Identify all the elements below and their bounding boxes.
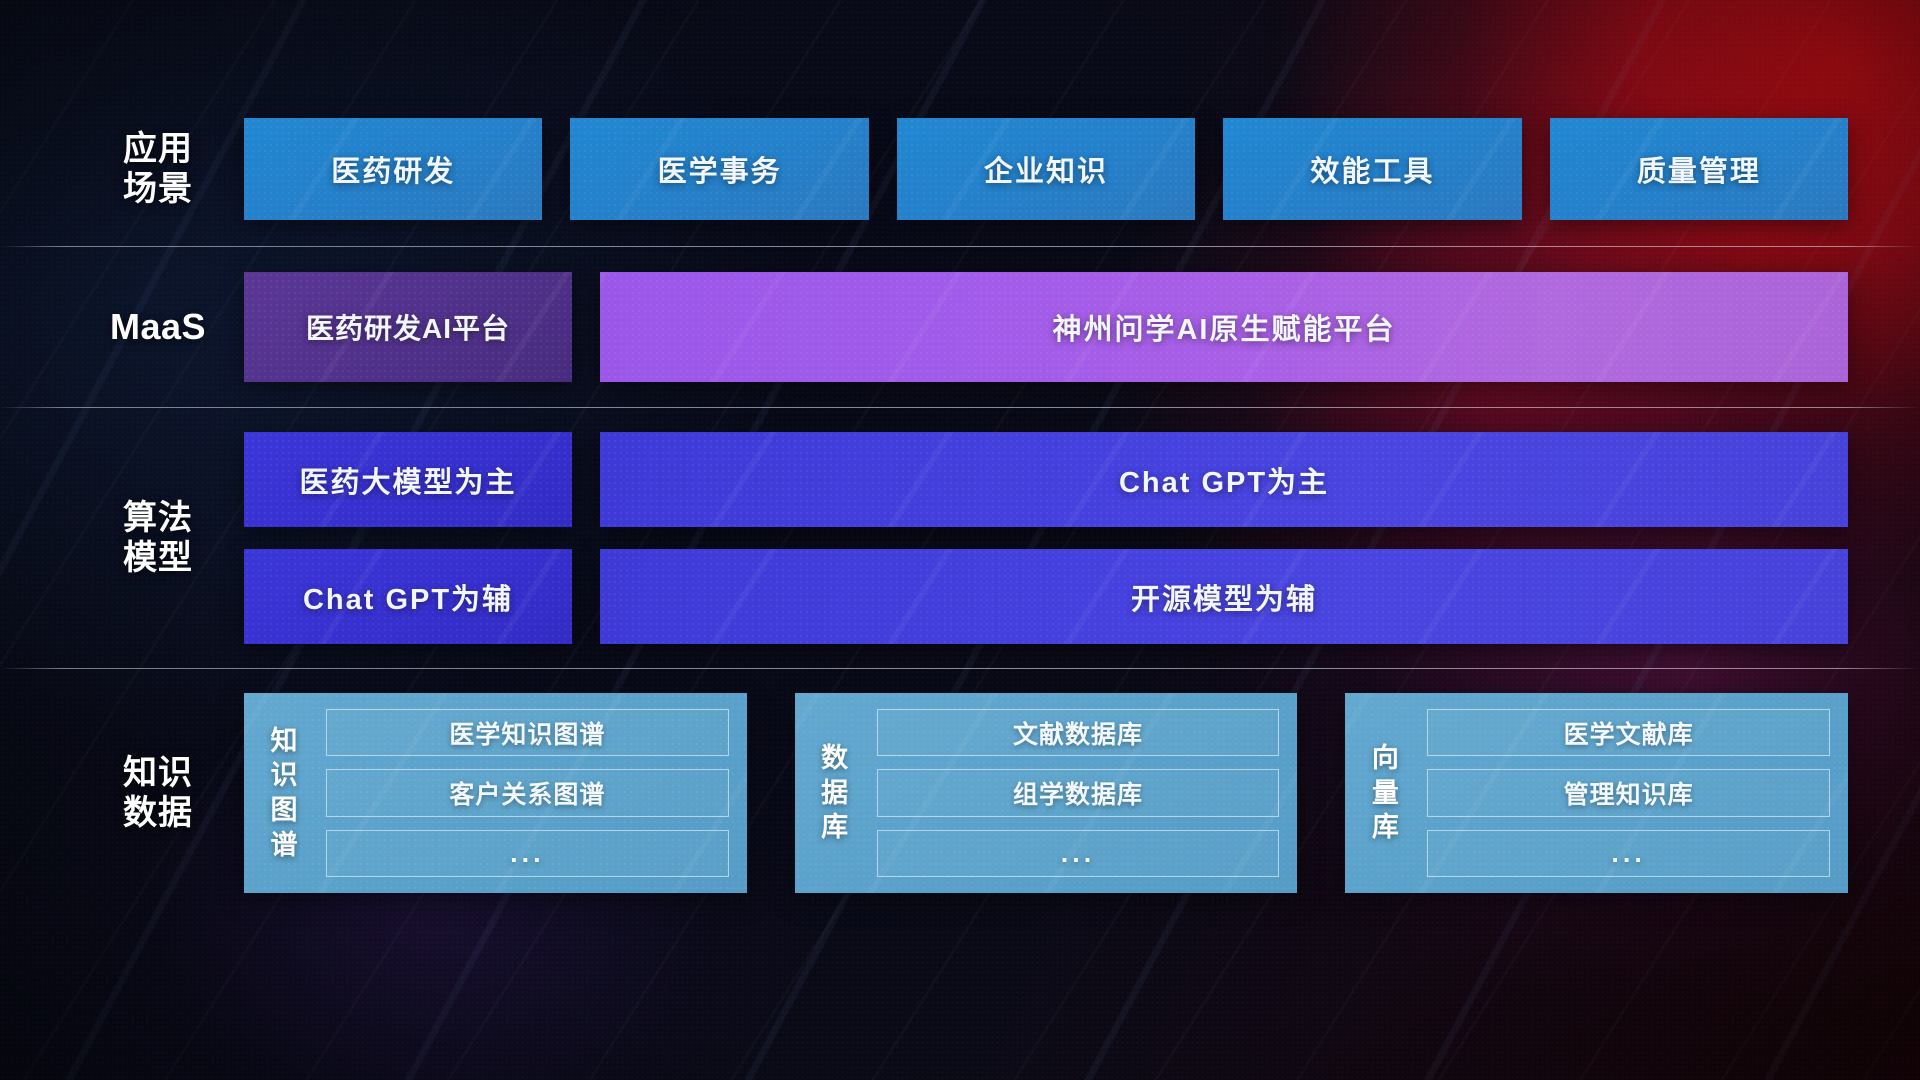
knowledge-item-more[interactable]: ... xyxy=(326,830,729,877)
app-card-label: 效能工具 xyxy=(1310,148,1434,190)
knowledge-item[interactable]: 组学数据库 xyxy=(877,769,1280,816)
row-body-application-scenarios: 医药研发 医学事务 企业知识 效能工具 xyxy=(244,92,1848,246)
maas-card-label: 神州问学AI原生赋能平台 xyxy=(1052,306,1395,348)
algo-card-chatgpt-secondary[interactable]: Chat GPT为辅 xyxy=(244,549,572,644)
row-label-algorithm-models: 算法模型 xyxy=(72,408,244,668)
row-label-maas: MaaS xyxy=(72,247,244,407)
algo-card-label: 医药大模型为主 xyxy=(299,459,516,501)
knowledge-item-list: 文献数据库 组学数据库 ... xyxy=(877,709,1280,877)
algo-card-pharma-large-model-primary[interactable]: 医药大模型为主 xyxy=(244,432,572,527)
application-scenario-card-list: 医药研发 医学事务 企业知识 效能工具 xyxy=(244,118,1848,220)
algorithm-row-primary: 医药大模型为主 Chat GPT为主 xyxy=(244,432,1848,527)
app-card-label: 质量管理 xyxy=(1637,148,1761,190)
row-body-algorithm-models: 医药大模型为主 Chat GPT为主 Chat GPT为辅 xyxy=(244,408,1848,668)
algo-card-opensource-model-secondary[interactable]: 开源模型为辅 xyxy=(600,549,1848,644)
app-card-quality-management[interactable]: 质量管理 xyxy=(1550,118,1848,220)
row-label-line: MaaS xyxy=(110,306,206,348)
algo-card-label: 开源模型为辅 xyxy=(1131,576,1317,618)
slide-canvas: 应用场景 医药研发 医学事务 企业知识 xyxy=(0,0,1920,1080)
knowledge-panel-title: 知识图谱 xyxy=(258,709,310,877)
row-body-knowledge-data: 知识图谱 医学知识图谱 客户关系图谱 ... 数据库 文献数据库 组学数据库 .… xyxy=(244,669,1848,917)
algorithm-row-secondary: Chat GPT为辅 开源模型为辅 xyxy=(244,549,1848,644)
maas-card-label: 医药研发AI平台 xyxy=(306,307,510,347)
row-label-application-scenarios: 应用场景 xyxy=(72,92,244,246)
algo-card-label: Chat GPT为辅 xyxy=(303,576,513,618)
app-card-efficiency-tools[interactable]: 效能工具 xyxy=(1223,118,1521,220)
row-label-line: 应用场景 xyxy=(123,129,193,209)
app-card-label: 医学事务 xyxy=(658,148,782,190)
maas-card-shenzhou-wenxue-platform[interactable]: 神州问学AI原生赋能平台 xyxy=(600,272,1848,382)
knowledge-item-list: 医学知识图谱 客户关系图谱 ... xyxy=(326,709,729,877)
maas-card-pharma-ai-platform[interactable]: 医药研发AI平台 xyxy=(244,272,572,382)
app-card-label: 企业知识 xyxy=(984,148,1108,190)
knowledge-item-more[interactable]: ... xyxy=(877,830,1280,877)
algo-card-label: Chat GPT为主 xyxy=(1119,459,1329,501)
row-body-maas: 医药研发AI平台 神州问学AI原生赋能平台 xyxy=(244,247,1848,407)
knowledge-panel-title: 向量库 xyxy=(1359,709,1411,877)
app-card-medicine-rnd[interactable]: 医药研发 xyxy=(244,118,542,220)
knowledge-item-list: 医学文献库 管理知识库 ... xyxy=(1427,709,1830,877)
app-card-enterprise-knowledge[interactable]: 企业知识 xyxy=(897,118,1195,220)
maas-card-list: 医药研发AI平台 神州问学AI原生赋能平台 xyxy=(244,272,1848,382)
knowledge-panel-title: 数据库 xyxy=(809,709,861,877)
row-label-line: 算法模型 xyxy=(123,498,193,578)
app-card-label: 医药研发 xyxy=(331,148,455,190)
knowledge-item-more[interactable]: ... xyxy=(1427,830,1830,877)
knowledge-item[interactable]: 管理知识库 xyxy=(1427,769,1830,816)
knowledge-panel-vector-store[interactable]: 向量库 医学文献库 管理知识库 ... xyxy=(1345,693,1848,893)
architecture-diagram: 应用场景 医药研发 医学事务 企业知识 xyxy=(0,0,1920,1080)
row-label-line: 知识数据 xyxy=(123,753,193,833)
knowledge-panel-list: 知识图谱 医学知识图谱 客户关系图谱 ... 数据库 文献数据库 组学数据库 .… xyxy=(244,693,1848,893)
knowledge-item[interactable]: 医学文献库 xyxy=(1427,709,1830,756)
knowledge-panel-database[interactable]: 数据库 文献数据库 组学数据库 ... xyxy=(795,693,1298,893)
algo-card-chatgpt-primary[interactable]: Chat GPT为主 xyxy=(600,432,1848,527)
row-label-knowledge-data: 知识数据 xyxy=(72,669,244,917)
algorithm-model-list: 医药大模型为主 Chat GPT为主 Chat GPT为辅 xyxy=(244,432,1848,644)
app-card-medical-affairs[interactable]: 医学事务 xyxy=(570,118,868,220)
knowledge-item[interactable]: 医学知识图谱 xyxy=(326,709,729,756)
knowledge-item[interactable]: 客户关系图谱 xyxy=(326,769,729,816)
knowledge-panel-knowledge-graph[interactable]: 知识图谱 医学知识图谱 客户关系图谱 ... xyxy=(244,693,747,893)
knowledge-item[interactable]: 文献数据库 xyxy=(877,709,1280,756)
